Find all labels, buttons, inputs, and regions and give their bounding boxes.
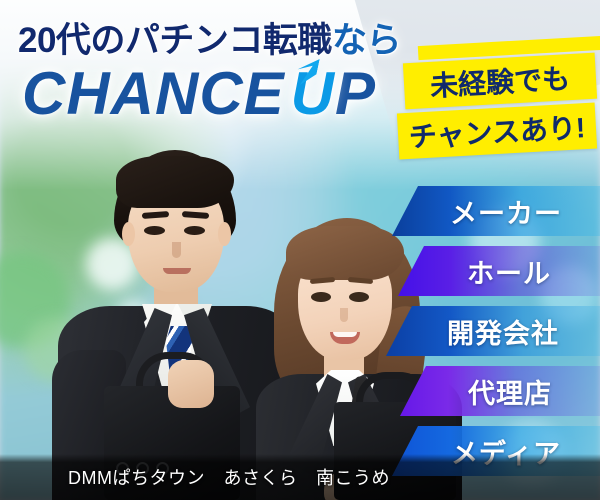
man-hand [168,360,214,408]
category-label: ホール [467,252,551,291]
man-eye-right [184,226,205,235]
woman-nose [340,308,348,322]
headline-line-2: CHANCEUP [22,65,401,124]
category-label: 開発会社 [447,312,559,351]
man-ear-right [218,222,231,246]
headline-line-1: 20代のパチンコ転職なら [18,12,401,63]
woman-eye-left [311,292,331,302]
caption-bar: DMMぱちタウン あさくら 南こうめ [0,454,600,500]
man-eye-left [144,226,165,235]
category-label: 代理店 [468,372,552,411]
category-button-maker[interactable]: メーカー [392,186,600,236]
caption-text: DMMぱちタウン あさくら 南こうめ [68,464,390,490]
headline-block: 20代のパチンコ転職なら CHANCEUP [18,12,401,124]
category-button-development-company[interactable]: 開発会社 [386,306,600,356]
man-nose [172,242,181,258]
headline-line-1-part-2: なら [332,21,401,60]
headline-line-1-part-1: 20代のパチンコ転職 [18,21,332,60]
man-fringe [116,156,234,208]
woman-fringe [286,226,404,280]
headline-up-letter-p: P [335,60,376,127]
man-mouth [163,268,191,274]
headline-chance-word: CHANCE [22,60,285,127]
headline-up-word: UP [291,65,376,124]
category-button-agency[interactable]: 代理店 [400,366,600,416]
category-button-hall[interactable]: ホール [398,246,600,296]
woman-eye-right [349,292,369,302]
category-label: メーカー [450,192,562,231]
woman-teeth [333,332,357,337]
promo-banner: 20代のパチンコ転職なら CHANCEUP 未経験でも チャンスあり! メーカー… [0,0,600,500]
man-ear-left [122,222,135,246]
